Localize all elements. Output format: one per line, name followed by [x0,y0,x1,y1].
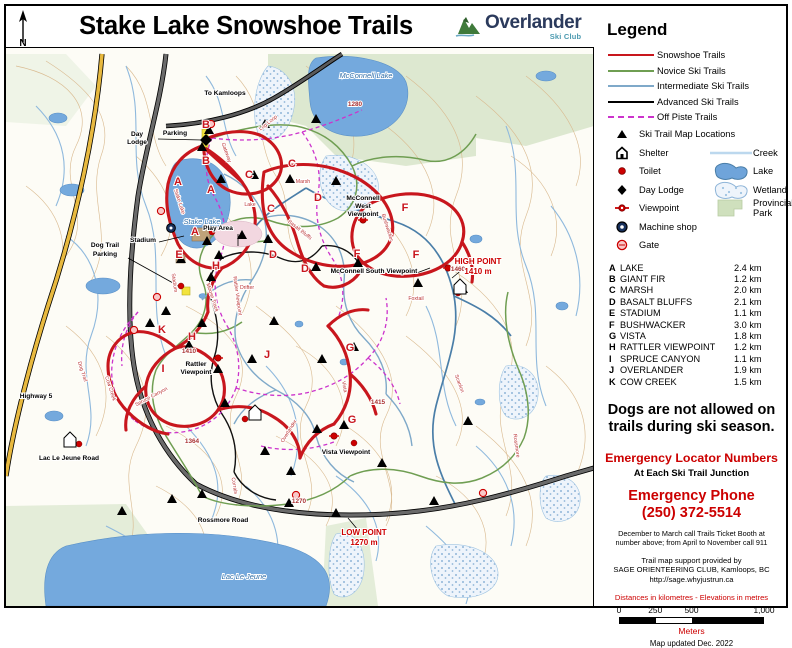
trail-key: B [609,274,620,285]
legend-symbol-list: Ski Trail Map Locations Shelter Creek To… [605,126,778,254]
trail-letter-marker: A [191,226,199,238]
trail-map-graphic[interactable]: Stake LakeMcConnell LakeLac Le Jeune To … [6,6,594,606]
legend-line-row: Advanced Ski Trails [605,95,778,110]
trail-letter-marker: A [207,184,215,196]
trail-distance: 1.5 km [734,377,778,388]
trail-letter-marker: C [245,169,253,181]
legend-line-row: Snowshoe Trails [605,48,778,63]
legend-symbol-row: Machine shop [605,218,778,235]
trail-distance: 1.1 km [734,308,778,319]
page-title: Stake Lake Snowshoe Trails [44,12,454,41]
legend-area-label: Creek [753,148,778,158]
trail-line-swatch [605,110,657,124]
trail-letter-marker: D [269,249,277,261]
place-label: McConnell [346,195,380,202]
trail-distance: 1.2 km [734,274,778,285]
trail-name: STADIUM [620,308,734,319]
place-label: West [355,203,371,210]
trail-key: A [609,263,620,274]
legend-symbol-label: Gate [639,240,659,250]
trail-name-label: Drifter [240,285,254,291]
place-label: Lodge [127,139,147,146]
trail-letter-marker: F [402,202,409,214]
logo-subtitle: Ski Club [485,33,581,41]
place-label: Rossmore Road [198,517,249,524]
trail-line-swatch [605,48,657,62]
legend-line-label: Snowshoe Trails [657,50,725,60]
trail-distance: 1.8 km [734,331,778,342]
trail-letter-marker: K [158,324,166,336]
logo-wordmark: Overlander [485,13,581,32]
toilet-icon [605,165,639,177]
place-label: Highway 5 [20,393,53,400]
legend-line-row: Intermediate Ski Trails [605,79,778,94]
trail-distance-row: D BASALT BLUFFS 2.1 km [609,297,778,308]
place-label: Play Area [203,225,233,232]
legend-symbol-label: Viewpoint [639,203,679,213]
trail-key: D [609,297,620,308]
trail-letter-marker: C [288,158,296,170]
legend-symbol-row: Toilet Lake [605,163,778,180]
place-label: Dog Trail [91,242,119,249]
trail-distance: 2.1 km [734,297,778,308]
north-letter: N [19,38,26,48]
scale-tick-labels: 02505001,000 [619,605,764,616]
trail-key: F [609,320,620,331]
map-panel[interactable]: Stake LakeMcConnell LakeLac Le Jeune To … [6,6,594,606]
credit-line1: Trail map support provided by [605,556,778,566]
north-arrow-icon: N [12,8,34,48]
trail-distance: 3.0 km [734,320,778,331]
trail-distance-row: F BUSHWACKER 3.0 km [609,320,778,331]
day-lodge-icon [605,183,639,197]
fine-line2: number above; from April to November cal… [605,538,778,547]
trail-letter-marker: A [174,176,182,188]
trail-name-label: Lake [244,202,255,208]
credit-url[interactable]: http://sage.whyjustrun.ca [605,575,778,585]
trail-name: VISTA [620,331,734,342]
trail-letter-marker: J [264,349,270,361]
trail-distance: 1.2 km [734,342,778,353]
dog-notice: Dogs are not allowed on trails during sk… [605,402,778,436]
trail-letter-marker: E [175,249,182,261]
place-label: Parking [93,251,117,258]
trail-distance: 1.9 km [734,365,778,376]
trail-letter-marker: B [202,119,210,131]
extreme-point-elevation: 1270 m [350,538,377,547]
scale-bar-graphic [619,617,764,624]
legend-area-label: Wetland [753,185,787,195]
map-header: N Stake Lake Snowshoe Trails Overlander … [6,6,594,48]
trail-name: SPRUCE CANYON [620,354,734,365]
emergency-phone-heading: Emergency Phone [605,488,778,505]
trail-letter-marker: B [202,155,210,167]
overlander-ski-club-logo: Overlander Ski Club [454,8,594,46]
legend-symbol-label: Machine shop [639,222,697,232]
trail-name: BASALT BLUFFS [620,297,734,308]
trail-distance: 1.1 km [734,354,778,365]
trail-line-swatch [605,64,657,78]
trail-name: GIANT FIR [620,274,734,285]
north-arrow: N [6,6,44,48]
legend-line-row: Off Piste Trails [605,110,778,125]
elevation-label: 1270 [292,498,307,505]
trail-distance-row: K COW CREEK 1.5 km [609,377,778,388]
place-label: To Kamloops [204,90,246,97]
water-label: Lac Le Jeune [222,572,266,581]
dog-notice-line1: Dogs are not allowed on [605,402,778,419]
emergency-locator-heading: Emergency Locator Numbers [605,451,778,465]
place-label: Viewpoint [347,211,379,218]
trail-distance-row: B GIANT FIR 1.2 km [609,274,778,285]
provincial-park-swatch [709,196,753,220]
legend-symbol-label: Day Lodge [639,185,684,195]
trail-key: G [609,331,620,342]
map-updated-date: Map updated Dec. 2022 [619,639,764,648]
trail-name-label: Foxtail [408,296,423,302]
units-note: Distances in kilometres - Elevations in … [605,593,778,602]
scale-units: Meters [619,626,764,636]
legend-line-label: Intermediate Ski Trails [657,81,749,91]
elevation-label: 1364 [185,438,200,445]
trail-line-swatch [605,79,657,93]
water-label: McConnell Lake [340,71,393,80]
trail-key: C [609,285,620,296]
extreme-point-label: LOW POINT [341,528,386,537]
trail-distance-row: J OVERLANDER 1.9 km [609,365,778,376]
trail-distance-table: A LAKE 2.4 km B GIANT FIR 1.2 km C MARSH… [609,263,778,388]
scale-tick: 1,000 [754,605,775,615]
legend-line-label: Novice Ski Trails [657,66,726,76]
trail-name: OVERLANDER [620,365,734,376]
trail-letter-marker: F [354,248,361,260]
trail-key: K [609,377,620,388]
trail-key: I [609,354,620,365]
trail-letter-marker: C [267,203,275,215]
triangle-icon [605,128,639,140]
trail-name: RATTLER VIEWPOINT [620,342,734,353]
scale-tick: 0 [617,605,622,615]
elevation-label: 1460 [451,266,466,273]
dog-notice-line2: trails during ski season. [605,419,778,436]
trail-distance-row: E STADIUM 1.1 km [609,308,778,319]
legend-line-label: Off Piste Trails [657,112,717,122]
legend-area-label: Provincial Park [753,198,792,218]
legend-symbol-label: Ski Trail Map Locations [639,129,735,139]
legend-title: Legend [607,20,778,40]
trail-letter-marker: H [188,331,196,343]
trail-name: LAKE [620,263,734,274]
legend-line-list: Snowshoe Trails Novice Ski Trails Interm… [605,48,778,125]
trail-distance-row: H RATTLER VIEWPOINT 1.2 km [609,342,778,353]
legend-line-label: Advanced Ski Trails [657,97,739,107]
legend-symbol-row: Gate [605,237,778,254]
viewpoint-icon [605,202,639,214]
emergency-fine-print: December to March call Trails Ticket Boo… [605,529,778,548]
emergency-phone-number[interactable]: (250) 372-5514 [605,505,778,522]
place-label: Stadium [130,237,156,244]
trail-map-page: Stake LakeMcConnell LakeLac Le Jeune To … [0,0,792,612]
trail-key: E [609,308,620,319]
legend-symbol-label: Shelter [639,148,668,158]
trail-letter-marker: I [161,363,164,375]
extreme-point-elevation: 1410 m [464,267,491,276]
trail-name: MARSH [620,285,734,296]
elevation-label: 1280 [348,101,363,108]
legend-symbol-label: Toilet [639,166,661,176]
trail-key: J [609,365,620,376]
legend-line-row: Novice Ski Trails [605,64,778,79]
trail-distance-row: C MARSH 2.0 km [609,285,778,296]
place-label: Parking [163,130,187,137]
place-label: Viewpoint [180,369,212,376]
emergency-locator-sub: At Each Ski Trail Junction [605,467,778,478]
legend-symbol-row: Shelter Creek [605,144,778,161]
trail-name: COW CREEK [620,377,734,388]
place-label: Lac Le Jeune Road [39,455,99,462]
legend-area-label: Lake [753,166,773,176]
legend-symbol-row: Viewpoint Provincial Park [605,200,778,217]
credit-line2: SAGE ORIENTEERING CLUB, Kamloops, BC [605,565,778,575]
place-label: Day [131,131,143,138]
creek-swatch [709,149,753,157]
shelter-icon [605,146,639,160]
trail-distance-row: I SPRUCE CANYON 1.1 km [609,354,778,365]
place-label: McConnell South Viewpoint [331,268,418,275]
trail-letter-marker: G [346,342,355,354]
trail-line-swatch [605,95,657,109]
extreme-point-label: HIGH POINT [455,257,502,266]
place-label: Vista Viewpoint [322,449,371,456]
trail-distance: 2.0 km [734,285,778,296]
trail-distance: 2.4 km [734,263,778,274]
place-label: Rattler [186,361,207,368]
trail-letter-marker: D [314,192,322,204]
trail-name-label: Marsh [296,179,311,185]
trail-letter-marker: G [348,414,357,426]
trail-letter-marker: D [301,263,309,275]
gate-icon [605,238,639,252]
trail-distance-row: G VISTA 1.8 km [609,331,778,342]
elevation-label: 1410 [182,348,197,355]
legend-panel: Legend Snowshoe Trails Novice Ski Trails… [595,6,786,606]
scale-bar: 02505001,000 Meters Map updated Dec. 202… [605,605,778,648]
fine-line1: December to March call Trails Ticket Boo… [605,529,778,538]
trail-name: BUSHWACKER [620,320,734,331]
map-credit: Trail map support provided by SAGE ORIEN… [605,556,778,585]
trail-letter-marker: F [413,249,420,261]
scale-tick: 500 [685,605,699,615]
elevation-label: 1415 [371,399,386,406]
trail-distance-row: A LAKE 2.4 km [609,263,778,274]
mountain-logo-icon [454,12,484,42]
trail-letter-marker: H [212,260,220,272]
trail-key: H [609,342,620,353]
legend-symbol-row: Ski Trail Map Locations [605,126,778,143]
machine-shop-icon [605,220,639,234]
scale-tick: 250 [648,605,662,615]
